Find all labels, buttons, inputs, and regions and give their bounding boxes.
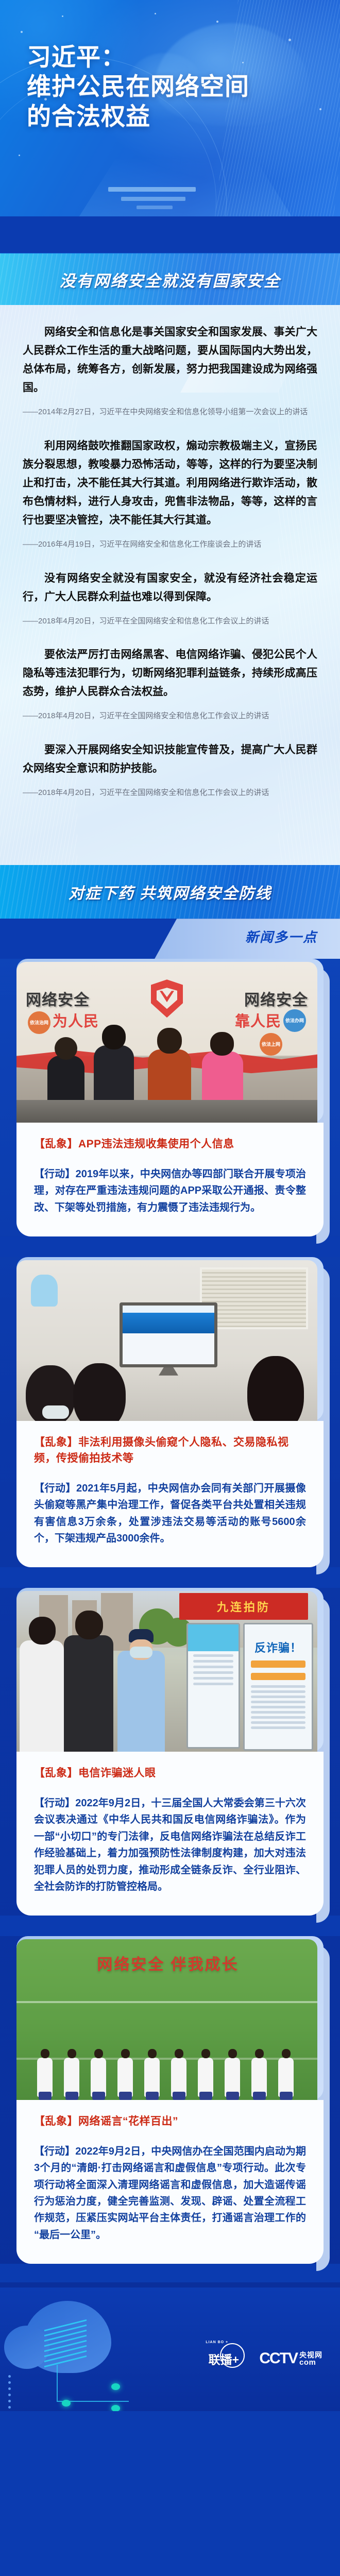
photo-person: [64, 1635, 113, 1752]
hero-banner: 习近平： 维护公民在网络空间 的合法权益: [0, 0, 340, 216]
photo-student: [225, 2058, 240, 2097]
cctv-logo[interactable]: CCTV 央视网 com: [259, 2350, 322, 2367]
wall-badge-3: 依法上网: [260, 1033, 282, 1056]
quote-body: 要依法严厉打击网络黑客、电信网络诈骗、侵犯公民个人隐私等违法犯罪行为，切断网络犯…: [23, 645, 317, 701]
anti-fraud-poster: 反诈骗！: [243, 1623, 313, 1751]
photo-person: [26, 1365, 75, 1421]
quote-body: 要深入开展网络安全知识技能宣传普及，提高广大人民群众网络安全意识和防护技能。: [23, 740, 317, 777]
quote-source: ——2014年2月27日，习近平在中央网络安全和信息化领导小组第一次会议上的讲话: [23, 406, 317, 418]
decorative-bar-2: [121, 197, 185, 201]
quote-source: ——2018年4月20日，习近平在全国网络安全和信息化工作会议上的讲话: [23, 615, 317, 628]
quote-item: 要依法严厉打击网络黑客、电信网络诈骗、侵犯公民个人隐私等违法犯罪行为，切断网络犯…: [23, 645, 317, 723]
photo-police-officer: [117, 1651, 165, 1752]
news-subtag-label: 新闻多一点: [245, 927, 317, 946]
quote-source: ——2016年4月19日，习近平在网络安全和信息化工作座谈会上的讲话: [23, 538, 317, 551]
news-subtag-row: 新闻多一点: [0, 919, 340, 959]
poster-title: 反诈骗！: [245, 1624, 312, 1655]
wall-slogan-right: 网络安全: [244, 987, 308, 1010]
lianbo-logo-cn: 联播+: [209, 2350, 239, 2367]
red-banner: 九连拍防: [179, 1593, 308, 1620]
photo-student: [117, 2058, 133, 2097]
section-1-banner-title: 没有网络安全就没有国家安全: [60, 268, 281, 291]
news-photo-frame: 网络安全 网络安全 为人民 靠人民 依法治网 依法办网 依法上网: [16, 959, 324, 1123]
action-paragraph: 【行动】2019年以来，中央网信办等四部门联合开展专项治理，对存在严重违法违规问…: [34, 1166, 306, 1216]
news-card: 网络安全 伴我成长 【乱象】网络谣言“花样百出”: [16, 1936, 324, 2264]
news-photo-frame: 九连拍防 反诈骗！: [16, 1588, 324, 1752]
news-card: 网络安全 网络安全 为人民 靠人民 依法治网 依法办网 依法上网: [16, 959, 324, 1236]
quote-item: 要深入开展网络安全知识技能宣传普及，提高广大人民群众网络安全意识和防护技能。 —…: [23, 740, 317, 800]
quote-body: 没有网络安全就没有国家安全，就没有经济社会稳定运行，广大人民群众利益也难以得到保…: [23, 569, 317, 606]
photo-student: [144, 2058, 160, 2097]
news-section: 对症下药 共筑网络安全防线 新闻多一点 网络安全 网络安全 为人民: [0, 865, 340, 2287]
field-line: [16, 2058, 317, 2060]
water-cooler: [31, 1275, 58, 1307]
wall-badge-2: 依法办网: [283, 1009, 306, 1032]
circuit-node: [111, 2405, 120, 2411]
cctv-logo-cn: 央视网: [299, 2351, 322, 2359]
news-photo-frame: 网络安全 伴我成长: [16, 1936, 324, 2100]
infographic-page: 习近平： 维护公民在网络空间 的合法权益 没有网络安全就没有国家安全 网络安全和…: [0, 0, 340, 2576]
face-mask: [130, 1647, 152, 1658]
field-slogan: 网络安全 伴我成长: [44, 1952, 292, 1974]
computer-monitor: [120, 1302, 217, 1367]
photo-student: [278, 2058, 294, 2097]
field-line: [16, 2001, 317, 2003]
decorative-bar-3: [137, 206, 173, 209]
title-line-3: 的合法权益: [27, 101, 249, 131]
section-2-banner: 对症下药 共筑网络安全防线: [0, 865, 340, 919]
circuit-node: [62, 2400, 71, 2406]
news-photo-frame: [16, 1257, 324, 1421]
photo-railing: [16, 1100, 317, 1123]
wall-slogan-left: 网络安全: [26, 987, 90, 1010]
wall-badge-1: 依法治网: [28, 1011, 50, 1034]
photo-person: [20, 1640, 64, 1752]
chaos-heading: 【乱象】电信诈骗迷人眼: [34, 1765, 306, 1782]
monitor-stand: [159, 1367, 178, 1376]
photo-security-wall: 网络安全 网络安全 为人民 靠人民 依法治网 依法办网 依法上网: [16, 962, 317, 1123]
action-paragraph: 【行动】2021年5月起，中央网信办会同有关部门开展摄像头偷窥等黑产集中治理工作…: [34, 1480, 306, 1547]
quote-list: 网络安全和信息化是事关国家安全和国家发展、事关广大人民群众工作生活的重大战略问题…: [0, 323, 340, 799]
title-line-2: 维护公民在网络空间: [27, 72, 249, 101]
quote-source: ——2018年4月20日，习近平在全国网络安全和信息化工作会议上的讲话: [23, 787, 317, 799]
lianbo-logo-en: LIAN BO +: [206, 2341, 228, 2344]
quote-body: 利用网络鼓吹推翻国家政权，煽动宗教极端主义，宣扬民族分裂思想，教唆暴力恐怖活动，…: [23, 436, 317, 530]
photo-office-review: [16, 1260, 317, 1421]
photo-police-outreach: 九连拍防 反诈骗！: [16, 1591, 317, 1752]
quote-item: 没有网络安全就没有国家安全，就没有经济社会稳定运行，广大人民群众利益也难以得到保…: [23, 569, 317, 628]
quote-item: 利用网络鼓吹推翻国家政权，煽动宗教极端主义，宣扬民族分裂思想，教唆暴力恐怖活动，…: [23, 436, 317, 551]
photo-person: [73, 1363, 126, 1421]
face-mask: [42, 1405, 69, 1419]
photo-student: [171, 2058, 186, 2097]
photo-person: [247, 1356, 304, 1421]
photo-student: [91, 2058, 106, 2097]
photo-student: [198, 2058, 213, 2097]
quote-body: 网络安全和信息化是事关国家安全和国家发展、事关广大人民群众工作生活的重大战略问题…: [23, 323, 317, 397]
photo-student: [64, 2058, 79, 2097]
quotes-section: 没有网络安全就没有国家安全 网络安全和信息化是事关国家安全和国家发展、事关广大人…: [0, 253, 340, 865]
cctv-wordmark: CCTV: [259, 2350, 297, 2367]
decorative-bar-1: [108, 187, 196, 192]
photo-school-field: 网络安全 伴我成长: [16, 1939, 317, 2100]
news-text-card: 【乱象】网络谣言“花样百出” 【行动】2022年9月2日，中央网信办在全国范围内…: [16, 2100, 324, 2264]
chaos-heading: 【乱象】非法利用摄像头偷窥个人隐私、交易隐私视频，传授偷拍技术等: [34, 1434, 306, 1467]
section-1-banner: 没有网络安全就没有国家安全: [0, 253, 340, 305]
action-paragraph: 【行动】2022年9月2日，十三届全国人大常委会第三十六次会议表决通过《中华人民…: [34, 1795, 306, 1895]
chaos-heading: 【乱象】网络谣言“花样百出”: [34, 2113, 306, 2130]
page-title: 习近平： 维护公民在网络空间 的合法权益: [27, 42, 249, 131]
news-card: 九连拍防 反诈骗！: [16, 1588, 324, 1916]
action-paragraph: 【行动】2022年9月2日，中央网信办在全国范围内启动为期3个月的“清朗·打击网…: [34, 2143, 306, 2243]
quote-source: ——2018年4月20日，习近平在全国网络安全和信息化工作会议上的讲话: [23, 710, 317, 722]
wall-sub-right: 靠人民: [235, 1009, 281, 1031]
news-text-card: 【乱象】电信诈骗迷人眼 【行动】2022年9月2日，十三届全国人大常委会第三十六…: [16, 1752, 324, 1916]
title-line-1: 习近平：: [27, 42, 249, 72]
cctv-logo-com: com: [299, 2359, 322, 2366]
news-card: 【乱象】非法利用摄像头偷窥个人隐私、交易隐私视频，传授偷拍技术等 【行动】202…: [16, 1257, 324, 1568]
info-poster: [186, 1623, 240, 1749]
chaos-heading: 【乱象】APP违法违规收集使用个人信息: [34, 1136, 306, 1153]
logo-row: LIAN BO + 联播+ CCTV 央视网 com: [203, 2345, 322, 2372]
photo-student: [37, 2058, 53, 2097]
wall-sub-left: 为人民: [53, 1009, 99, 1031]
news-text-card: 【乱象】APP违法违规收集使用个人信息 【行动】2019年以来，中央网信办等四部…: [16, 1123, 324, 1236]
lianbo-logo[interactable]: LIAN BO + 联播+: [203, 2345, 244, 2372]
section-2-banner-title: 对症下药 共筑网络安全防线: [69, 880, 271, 903]
footer: LIAN BO + 联播+ CCTV 央视网 com: [0, 2287, 340, 2411]
quote-item: 网络安全和信息化是事关国家安全和国家发展、事关广大人民群众工作生活的重大战略问题…: [23, 323, 317, 419]
news-text-card: 【乱象】非法利用摄像头偷窥个人隐私、交易隐私视频，传授偷拍技术等 【行动】202…: [16, 1421, 324, 1568]
photo-student: [251, 2058, 267, 2097]
